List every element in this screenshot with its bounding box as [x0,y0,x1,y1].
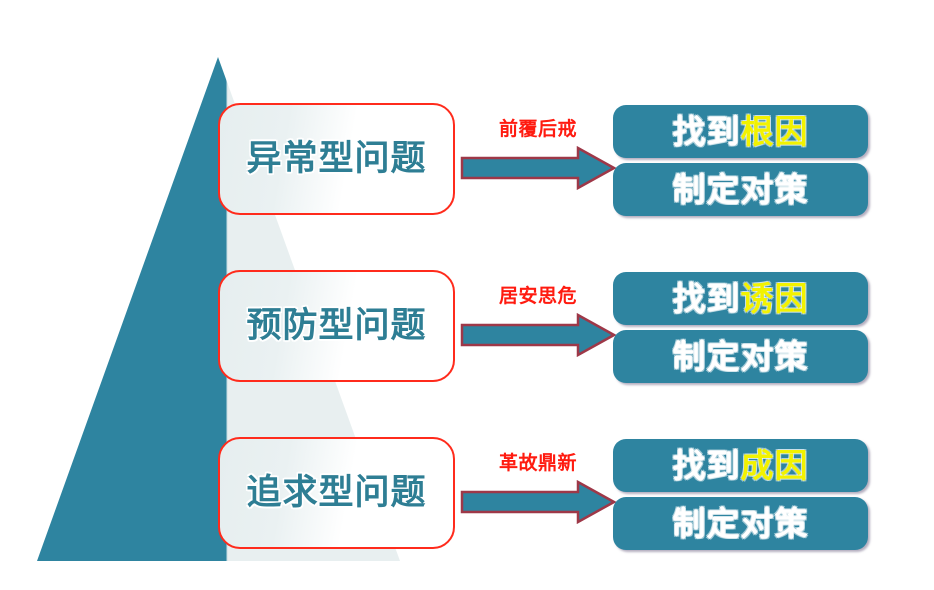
result-card-secondary-pursuit[interactable]: 制定对策 [613,497,868,550]
result-primary-prefix: 找到 [673,279,741,318]
slide-canvas: 异常型问题 前覆后戒 找到根因 制定对策 预防型问题 居安思危 找到诱因 制定对… [0,0,934,590]
result-secondary-text: 制定对策 [673,507,809,540]
result-secondary-text: 制定对策 [673,173,809,206]
result-secondary-text: 制定对策 [673,340,809,373]
arrow-label-pursuit: 革故鼎新 [460,454,616,473]
result-primary-text: 找到诱因 [673,282,809,315]
result-primary-prefix: 找到 [673,446,741,485]
arrow-right-icon [460,313,616,357]
arrow-right-icon [460,480,616,524]
problem-card-pursuit[interactable]: 追求型问题 [218,437,455,549]
result-primary-accent: 根因 [741,112,809,151]
problem-card-preventive[interactable]: 预防型问题 [218,270,455,382]
result-card-secondary-abnormal[interactable]: 制定对策 [613,163,868,216]
result-primary-accent: 诱因 [741,279,809,318]
problem-card-label: 追求型问题 [246,476,426,511]
problem-card-label: 预防型问题 [246,309,426,344]
result-card-secondary-preventive[interactable]: 制定对策 [613,330,868,383]
result-card-primary-preventive[interactable]: 找到诱因 [613,272,868,325]
result-primary-text: 找到成因 [673,449,809,482]
arrow-group-preventive: 居安思危 [460,287,616,373]
result-card-primary-abnormal[interactable]: 找到根因 [613,105,868,158]
result-primary-prefix: 找到 [673,112,741,151]
problem-card-label: 异常型问题 [246,142,426,177]
result-primary-text: 找到根因 [673,115,809,148]
arrow-right-icon [460,146,616,190]
arrow-label-abnormal: 前覆后戒 [460,120,616,139]
arrow-group-abnormal: 前覆后戒 [460,120,616,206]
arrow-group-pursuit: 革故鼎新 [460,454,616,540]
problem-card-abnormal[interactable]: 异常型问题 [218,103,455,215]
result-card-primary-pursuit[interactable]: 找到成因 [613,439,868,492]
arrow-label-preventive: 居安思危 [460,287,616,306]
result-primary-accent: 成因 [741,446,809,485]
